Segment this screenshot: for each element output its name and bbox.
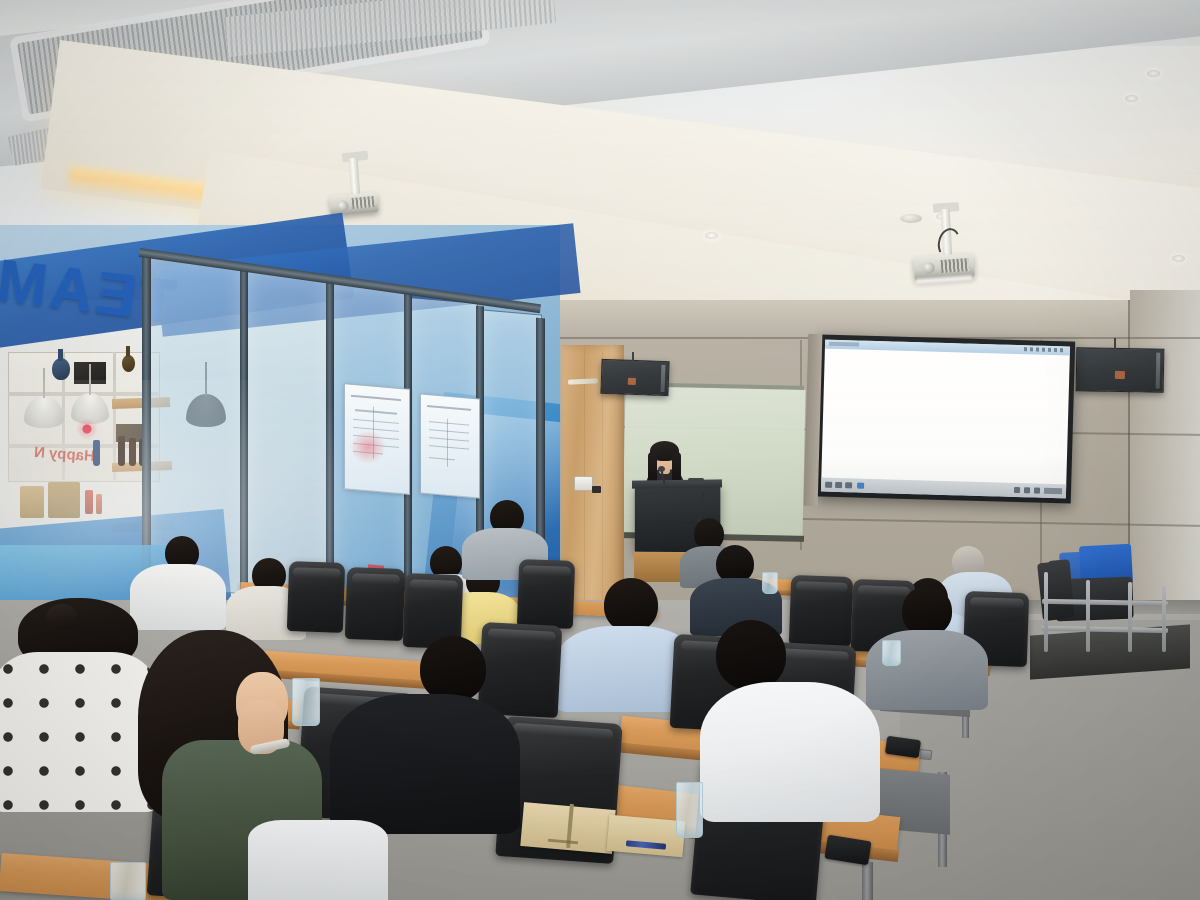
shelf-divider [113, 352, 116, 480]
speaker-cable [1114, 338, 1116, 349]
podium-monitor-edge [688, 478, 704, 484]
wall-sensor-icon [592, 486, 601, 493]
table-leg [862, 862, 873, 900]
water-glass[interactable] [882, 640, 901, 666]
screen-taskbar [821, 478, 1066, 499]
water-glass[interactable] [762, 572, 778, 594]
wall-speaker-icon [1076, 347, 1165, 393]
window-mullion [240, 264, 248, 605]
water-glass[interactable] [110, 862, 146, 900]
conference-chair[interactable] [478, 622, 563, 718]
attendee-head [716, 620, 786, 690]
speaker-cable [632, 352, 634, 361]
decor-item [85, 490, 93, 514]
vase-neck [58, 349, 63, 361]
attendee-head [604, 578, 658, 632]
chair-trolley-post [1128, 582, 1132, 652]
glass-pane [246, 268, 328, 597]
water-glass[interactable] [676, 782, 703, 838]
wall-upper-band [560, 300, 1200, 338]
conference-room-photo: Happy N TEAM [0, 0, 1200, 900]
red-ornament [76, 418, 98, 440]
bottle [129, 438, 136, 466]
downlight-icon [1125, 95, 1138, 102]
light-switch-plate[interactable] [574, 476, 593, 491]
attendee-hair-bun [46, 604, 78, 630]
conference-chair[interactable] [517, 559, 575, 629]
wall-speaker-icon [600, 359, 669, 396]
presenter-hair-strand [648, 452, 657, 484]
attendee-head [420, 636, 486, 702]
projection-screen-surface [821, 340, 1070, 499]
attendee-body [248, 820, 388, 900]
storage-box [48, 482, 80, 518]
notice-poster [420, 393, 480, 498]
projector-vent-icon [941, 258, 970, 273]
downlight-icon [705, 232, 718, 239]
projection-screen [816, 334, 1075, 503]
conference-chair[interactable] [287, 561, 345, 633]
pendant-cord [43, 368, 45, 398]
decor-item [96, 494, 102, 514]
attendee-body [330, 694, 520, 834]
microphone-icon [658, 466, 665, 472]
chair-trolley-post [1044, 572, 1048, 652]
storage-box [20, 486, 44, 518]
attendee-head [902, 586, 952, 636]
downlight-icon [1172, 255, 1185, 262]
poster-red-mark [350, 430, 386, 464]
decorative-vase [122, 355, 135, 372]
decorative-vase [52, 358, 70, 380]
chair-trolley-post [1162, 586, 1166, 652]
conference-chair[interactable] [345, 567, 405, 641]
presenter-hair-strand [672, 452, 681, 482]
water-glass[interactable] [292, 678, 320, 726]
chair-trolley-post [1086, 580, 1090, 652]
projector-vent-icon [352, 196, 375, 209]
podium-top-surface [632, 479, 722, 488]
conference-chair[interactable] [789, 575, 853, 647]
pendant-cord [89, 364, 91, 395]
window-mullion [326, 278, 334, 609]
bottle [93, 440, 100, 466]
attendee-body [130, 564, 226, 630]
smoke-detector-icon [900, 214, 922, 223]
screen-window-titlebar [825, 340, 1070, 356]
polka-dot-pattern [0, 652, 160, 812]
vase-neck [126, 346, 130, 357]
attendee-body [700, 682, 880, 822]
downlight-icon [1147, 70, 1160, 77]
document-folder[interactable] [607, 815, 686, 857]
